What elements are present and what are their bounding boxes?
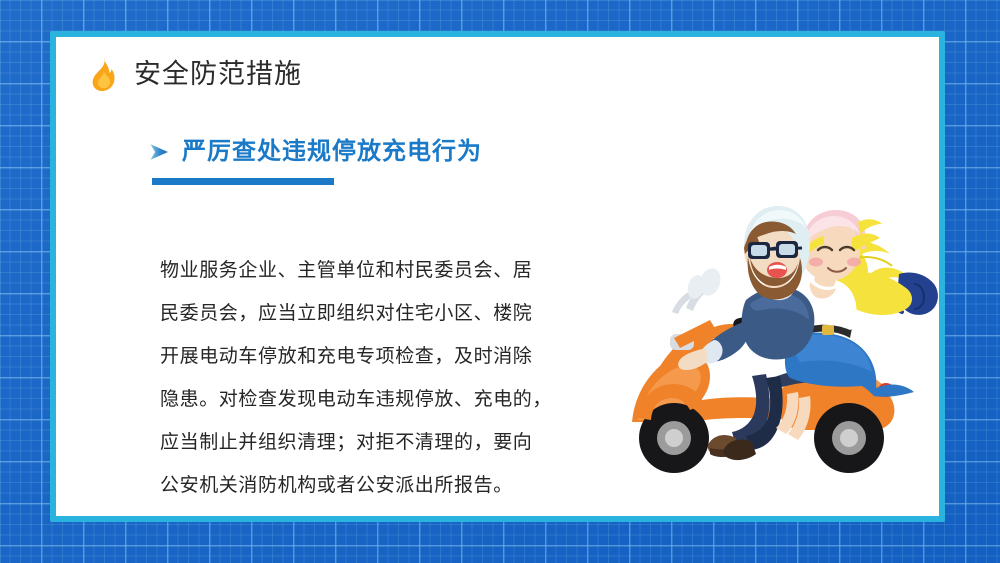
body-line: 公安机关消防机构或者公安派出所报告。	[160, 464, 560, 507]
body-line: 开展电动车停放和充电专项检查，及时消除	[160, 335, 560, 378]
page-header: 安全防范措施	[88, 57, 302, 91]
body-line: 物业服务企业、主管单位和村民委员会、居	[160, 249, 560, 292]
body-line: 民委员会，应当立即组织对住宅小区、楼院	[160, 292, 560, 335]
slide-root: 安全防范措施 严厉	[0, 0, 1000, 563]
body-paragraph: 物业服务企业、主管单位和村民委员会、居 民委员会，应当立即组织对住宅小区、楼院 …	[160, 249, 560, 507]
couple-riding-scooter-illustration	[614, 192, 944, 492]
section-block: 严厉查处违规停放充电行为	[149, 140, 579, 185]
flame-icon	[88, 57, 118, 91]
arrow-right-icon	[149, 142, 171, 162]
page-title: 安全防范措施	[134, 61, 302, 88]
section-title: 严厉查处违规停放充电行为	[182, 140, 482, 164]
body-line: 应当制止并组织清理；对拒不清理的，要向	[160, 421, 560, 464]
body-line: 隐患。对检查发现电动车违规停放、充电的，	[160, 378, 560, 421]
content-card: 安全防范措施 严厉	[50, 31, 945, 522]
section-underline	[152, 178, 334, 185]
section-heading-row: 严厉查处违规停放充电行为	[149, 140, 579, 164]
